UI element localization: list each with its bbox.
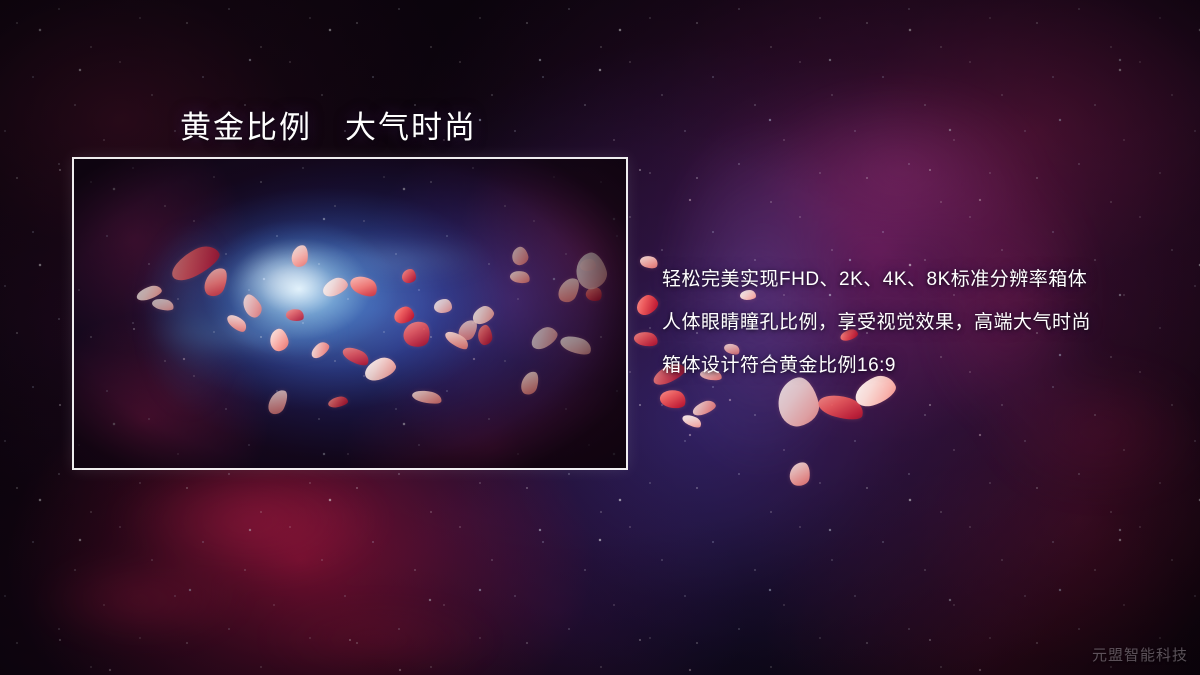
page-title: 黄金比例 大气时尚 [180,102,477,147]
body-text-block: 轻松完美实现FHD、2K、4K、8K标准分辨率箱体 人体眼睛瞳孔比例，享受视觉效… [662,258,1182,387]
body-line: 人体眼睛瞳孔比例，享受视觉效果，高端大气时尚 [662,301,1182,344]
watermark: 元盟智能科技 [1092,644,1188,665]
display-frame [72,157,628,470]
body-line: 轻松完美实现FHD、2K、4K、8K标准分辨率箱体 [662,258,1182,301]
display-content [74,159,626,468]
body-line: 箱体设计符合黄金比例16:9 [662,344,1182,387]
slide-canvas: 黄金比例 大气时尚 轻松完美实现FHD、2K、4K、8K标准分辨率箱体 人体眼睛… [0,0,1200,675]
panel-vignette [74,159,626,468]
